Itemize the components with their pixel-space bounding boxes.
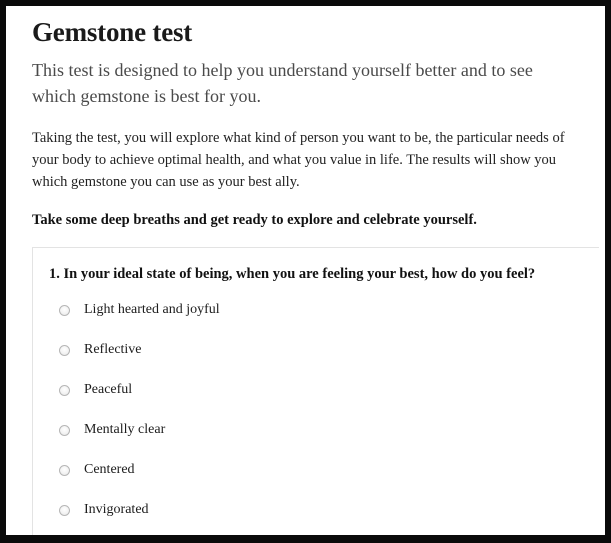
option-row[interactable]: Centered bbox=[59, 460, 583, 500]
options-list: Light hearted and joyful Reflective Peac… bbox=[49, 300, 583, 535]
radio-button-icon[interactable] bbox=[59, 345, 70, 356]
option-row[interactable]: Peaceful bbox=[59, 380, 583, 420]
option-label: Mentally clear bbox=[84, 420, 165, 440]
page-content: Gemstone test This test is designed to h… bbox=[6, 6, 605, 535]
option-label: Centered bbox=[84, 460, 135, 480]
option-label: Peaceful bbox=[84, 380, 132, 400]
page-subtitle: This test is designed to help you unders… bbox=[32, 57, 577, 109]
radio-button-icon[interactable] bbox=[59, 465, 70, 476]
cta-line: Take some deep breaths and get ready to … bbox=[32, 210, 585, 231]
browser-window-frame: Gemstone test This test is designed to h… bbox=[0, 0, 611, 543]
option-row[interactable]: Invigorated bbox=[59, 500, 583, 535]
intro-paragraph: Taking the test, you will explore what k… bbox=[32, 127, 580, 193]
option-label: Light hearted and joyful bbox=[84, 300, 220, 320]
page-title: Gemstone test bbox=[32, 16, 585, 48]
option-label: Reflective bbox=[84, 340, 142, 360]
option-row[interactable]: Light hearted and joyful bbox=[59, 300, 583, 340]
page-surface: Gemstone test This test is designed to h… bbox=[6, 6, 605, 535]
radio-button-icon[interactable] bbox=[59, 305, 70, 316]
question-card: 1. In your ideal state of being, when yo… bbox=[32, 247, 599, 535]
radio-button-icon[interactable] bbox=[59, 385, 70, 396]
question-text: 1. In your ideal state of being, when yo… bbox=[49, 262, 583, 286]
radio-button-icon[interactable] bbox=[59, 505, 70, 516]
option-label: Invigorated bbox=[84, 500, 149, 520]
option-row[interactable]: Reflective bbox=[59, 340, 583, 380]
option-row[interactable]: Mentally clear bbox=[59, 420, 583, 460]
radio-button-icon[interactable] bbox=[59, 425, 70, 436]
